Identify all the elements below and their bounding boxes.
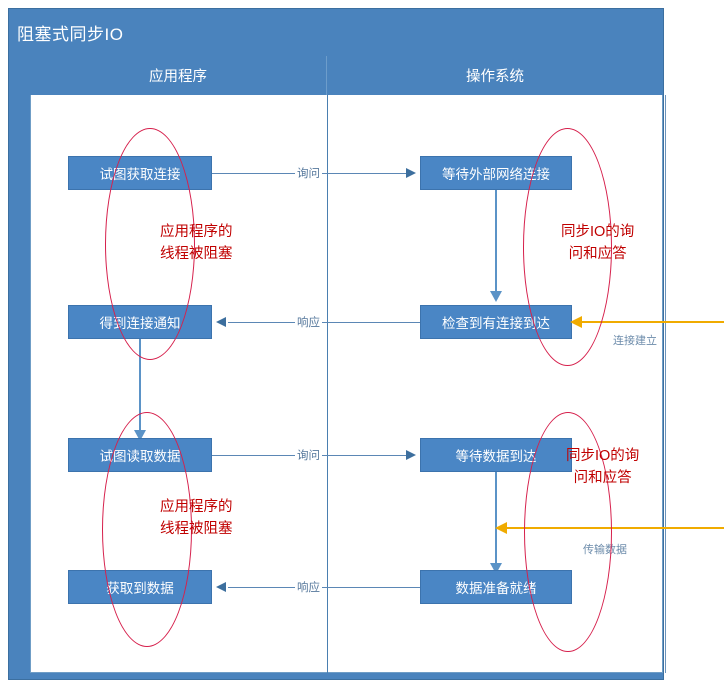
column-header-operating-system: 操作系统 — [327, 56, 663, 95]
connector-ask-2-arrowhead — [406, 450, 416, 460]
annotation-app-blocked-2-line1: 应用程序的 — [160, 497, 233, 519]
column-header-application: 应用程序 — [30, 56, 327, 95]
box-os-wait-network[interactable]: 等待外部网络连接 — [420, 156, 572, 190]
connector-label-ask-2: 询问 — [295, 447, 322, 463]
connector-respond-1-line — [228, 322, 420, 323]
external-arrow-transfer-data-line — [505, 527, 724, 529]
connector-os-wait-to-detect-arrowhead — [490, 291, 502, 302]
annotation-app-blocked-1-line2: 线程被阻塞 — [160, 244, 233, 266]
external-arrow-label-connection-established: 连接建立 — [613, 332, 657, 348]
connector-label-respond-1: 响应 — [295, 314, 322, 330]
annotation-sync-io-qa-2-line1: 同步IO的询 — [566, 446, 639, 468]
box-app-got-data[interactable]: 获取到数据 — [68, 570, 212, 604]
annotation-sync-io-qa-1-line2: 问和应答 — [561, 244, 634, 266]
diagram-canvas: 阻塞式同步IO 应用程序 操作系统 试图获取连接 询问 等待外部网络连接 检查到… — [0, 0, 724, 689]
column-header-strip: 应用程序 操作系统 — [30, 56, 663, 95]
box-app-try-connect[interactable]: 试图获取连接 — [68, 156, 212, 190]
connector-os-wait-to-detect-line — [495, 190, 497, 292]
external-arrow-connection-established-line — [580, 321, 724, 323]
connector-ask-1-arrowhead — [406, 168, 416, 178]
annotation-app-blocked-1: 应用程序的 线程被阻塞 — [160, 222, 233, 266]
annotation-app-blocked-1-line1: 应用程序的 — [160, 222, 233, 244]
external-arrow-transfer-data-arrowhead — [495, 522, 507, 534]
annotation-sync-io-qa-1: 同步IO的询 问和应答 — [561, 222, 634, 266]
connector-respond-1-arrowhead — [216, 317, 226, 327]
connector-os-wait-data-to-ready-line — [495, 472, 497, 564]
annotation-sync-io-qa-2-line2: 问和应答 — [566, 468, 639, 490]
external-arrow-label-transfer-data: 传输数据 — [583, 541, 627, 557]
box-os-detect-connection[interactable]: 检查到有连接到达 — [420, 305, 572, 339]
connector-app-notice-to-read-line — [139, 339, 141, 431]
box-os-wait-data[interactable]: 等待数据到达 — [420, 438, 572, 472]
annotation-sync-io-qa-2: 同步IO的询 问和应答 — [566, 446, 639, 490]
box-app-try-read[interactable]: 试图读取数据 — [68, 438, 212, 472]
external-arrow-connection-established-arrowhead — [570, 316, 582, 328]
annotation-app-blocked-2-line2: 线程被阻塞 — [160, 519, 233, 541]
box-os-data-ready[interactable]: 数据准备就绪 — [420, 570, 572, 604]
diagram-title-band: 阻塞式同步IO — [9, 9, 663, 55]
connector-respond-2-arrowhead — [216, 582, 226, 592]
connector-label-ask-1: 询问 — [295, 165, 322, 181]
connector-label-respond-2: 响应 — [295, 579, 322, 595]
annotation-app-blocked-2: 应用程序的 线程被阻塞 — [160, 497, 233, 541]
box-app-connection-notice[interactable]: 得到连接通知 — [68, 305, 212, 339]
annotation-sync-io-qa-1-line1: 同步IO的询 — [561, 222, 634, 244]
page-title: 阻塞式同步IO — [9, 20, 123, 45]
external-boundary-rule — [665, 95, 666, 673]
connector-respond-2-line — [228, 587, 420, 588]
